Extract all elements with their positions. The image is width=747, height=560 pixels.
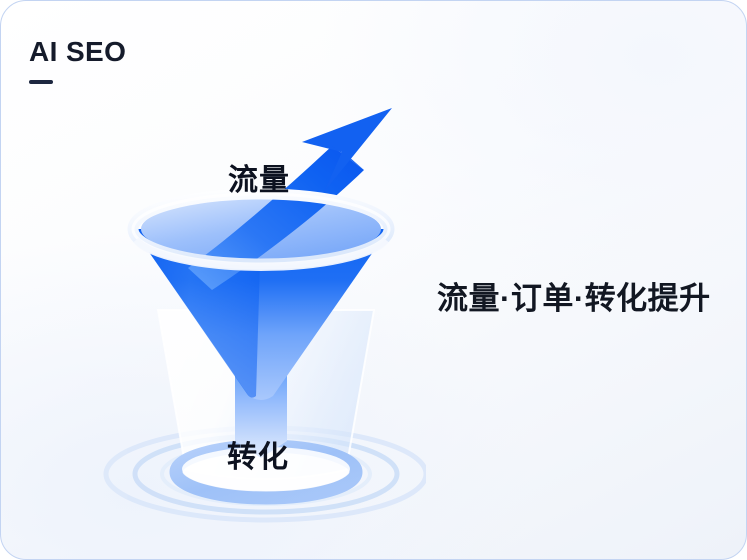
label-traffic: 流量 (228, 155, 290, 199)
page-title-text: AI SEO (29, 37, 289, 66)
title-underline-rule (29, 80, 53, 84)
label-conversion: 转化 (227, 432, 289, 476)
page-title: AI SEO (29, 37, 289, 84)
poster-canvas: AI SEO 流量·订单·转化提升 (0, 0, 747, 560)
tagline-text: 流量·订单·转化提升 (437, 273, 711, 318)
